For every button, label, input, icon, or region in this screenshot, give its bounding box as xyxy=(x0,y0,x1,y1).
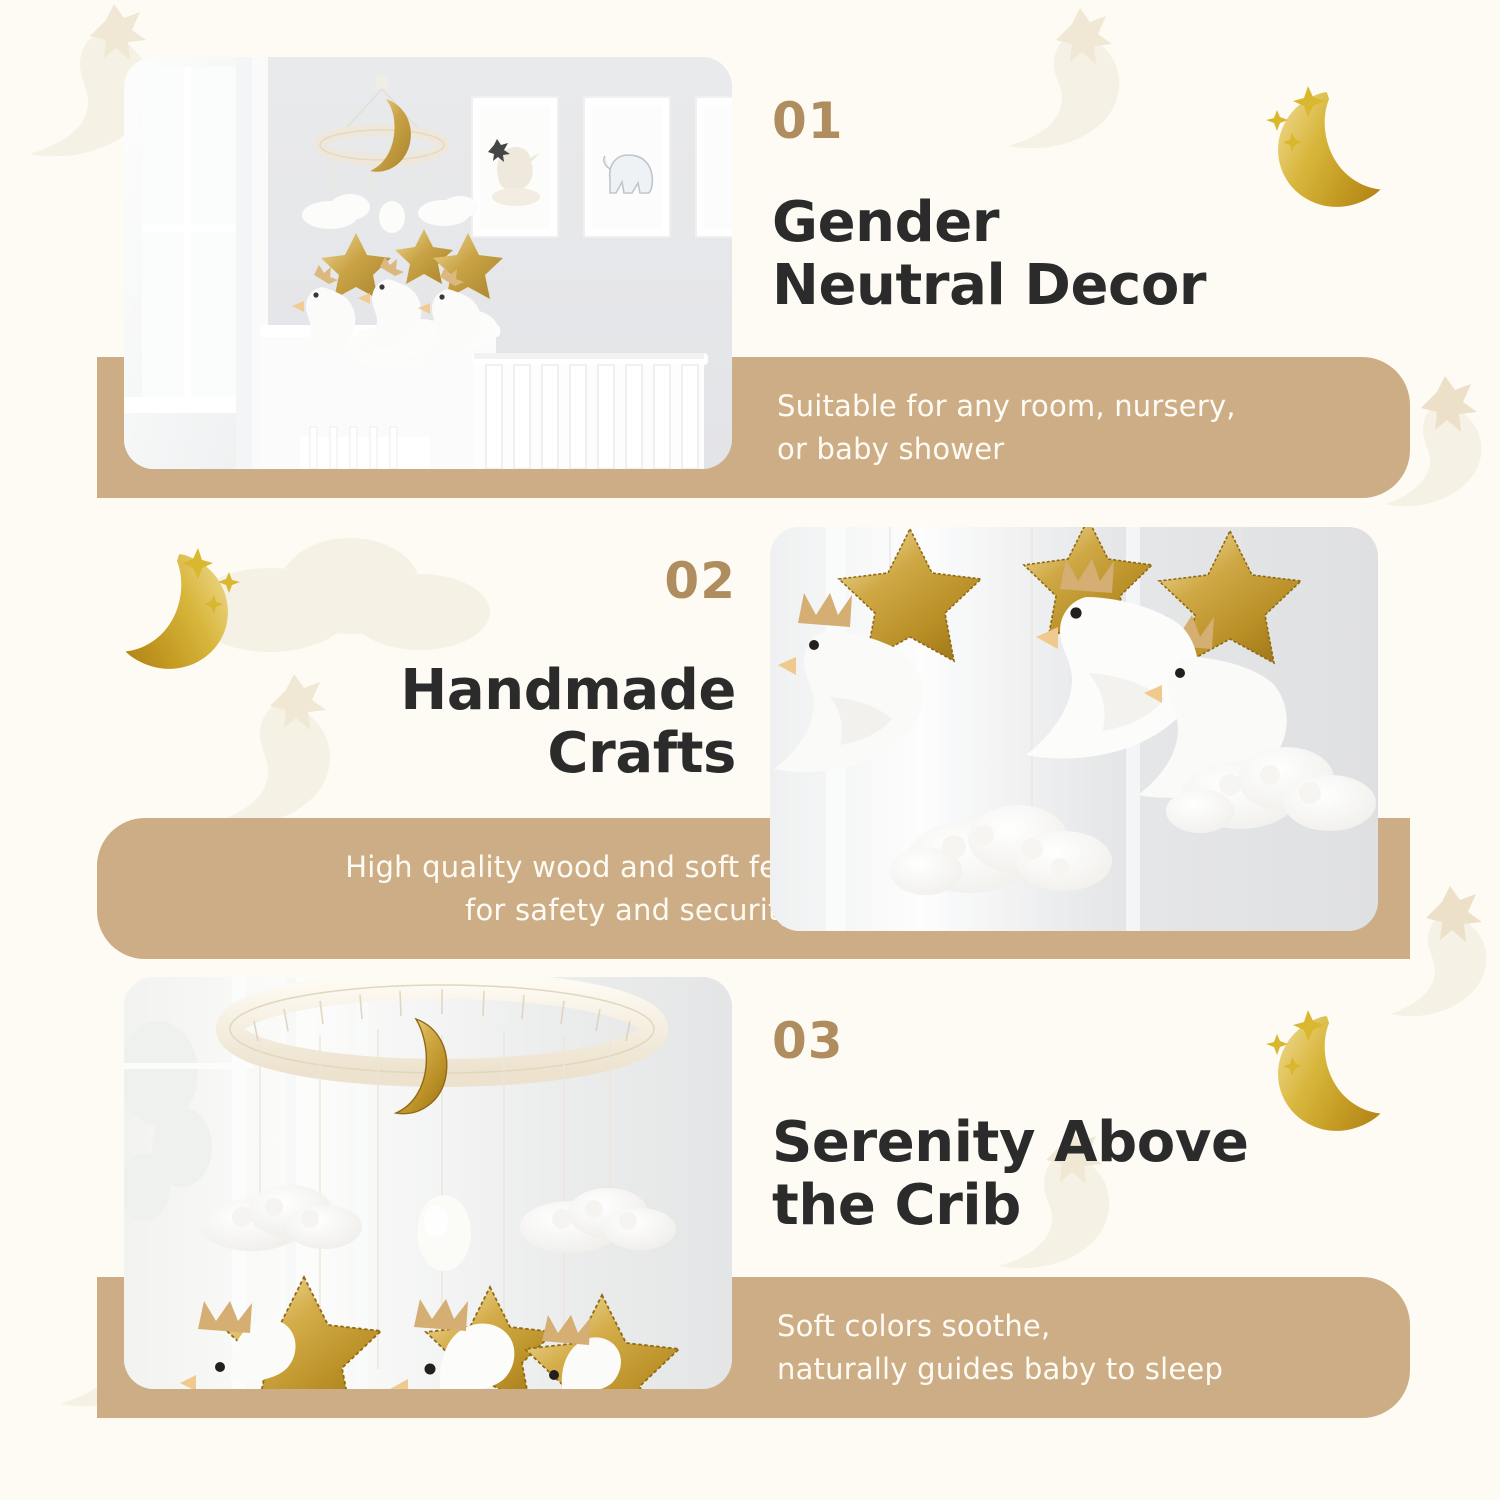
section-title-2: Handmade Crafts xyxy=(120,660,736,785)
caption-text-3: Soft colors soothe, naturally guides bab… xyxy=(777,1305,1223,1389)
photo-mobile-underside xyxy=(124,977,732,1389)
caption-text-1: Suitable for any room, nursery, or baby … xyxy=(777,385,1236,469)
infographic-page: Suitable for any room, nursery, or baby … xyxy=(0,0,1500,1500)
photo-felt-swans-closeup xyxy=(770,527,1378,931)
crescent-moon-sparkles-icon-1 xyxy=(1248,84,1388,212)
photo-nursery-room xyxy=(124,57,732,469)
crescent-moon-sparkles-icon-3 xyxy=(1248,1008,1388,1136)
caption-text-2: High quality wood and soft felt for safe… xyxy=(157,846,797,930)
crescent-moon-sparkles-icon-2 xyxy=(118,546,258,674)
